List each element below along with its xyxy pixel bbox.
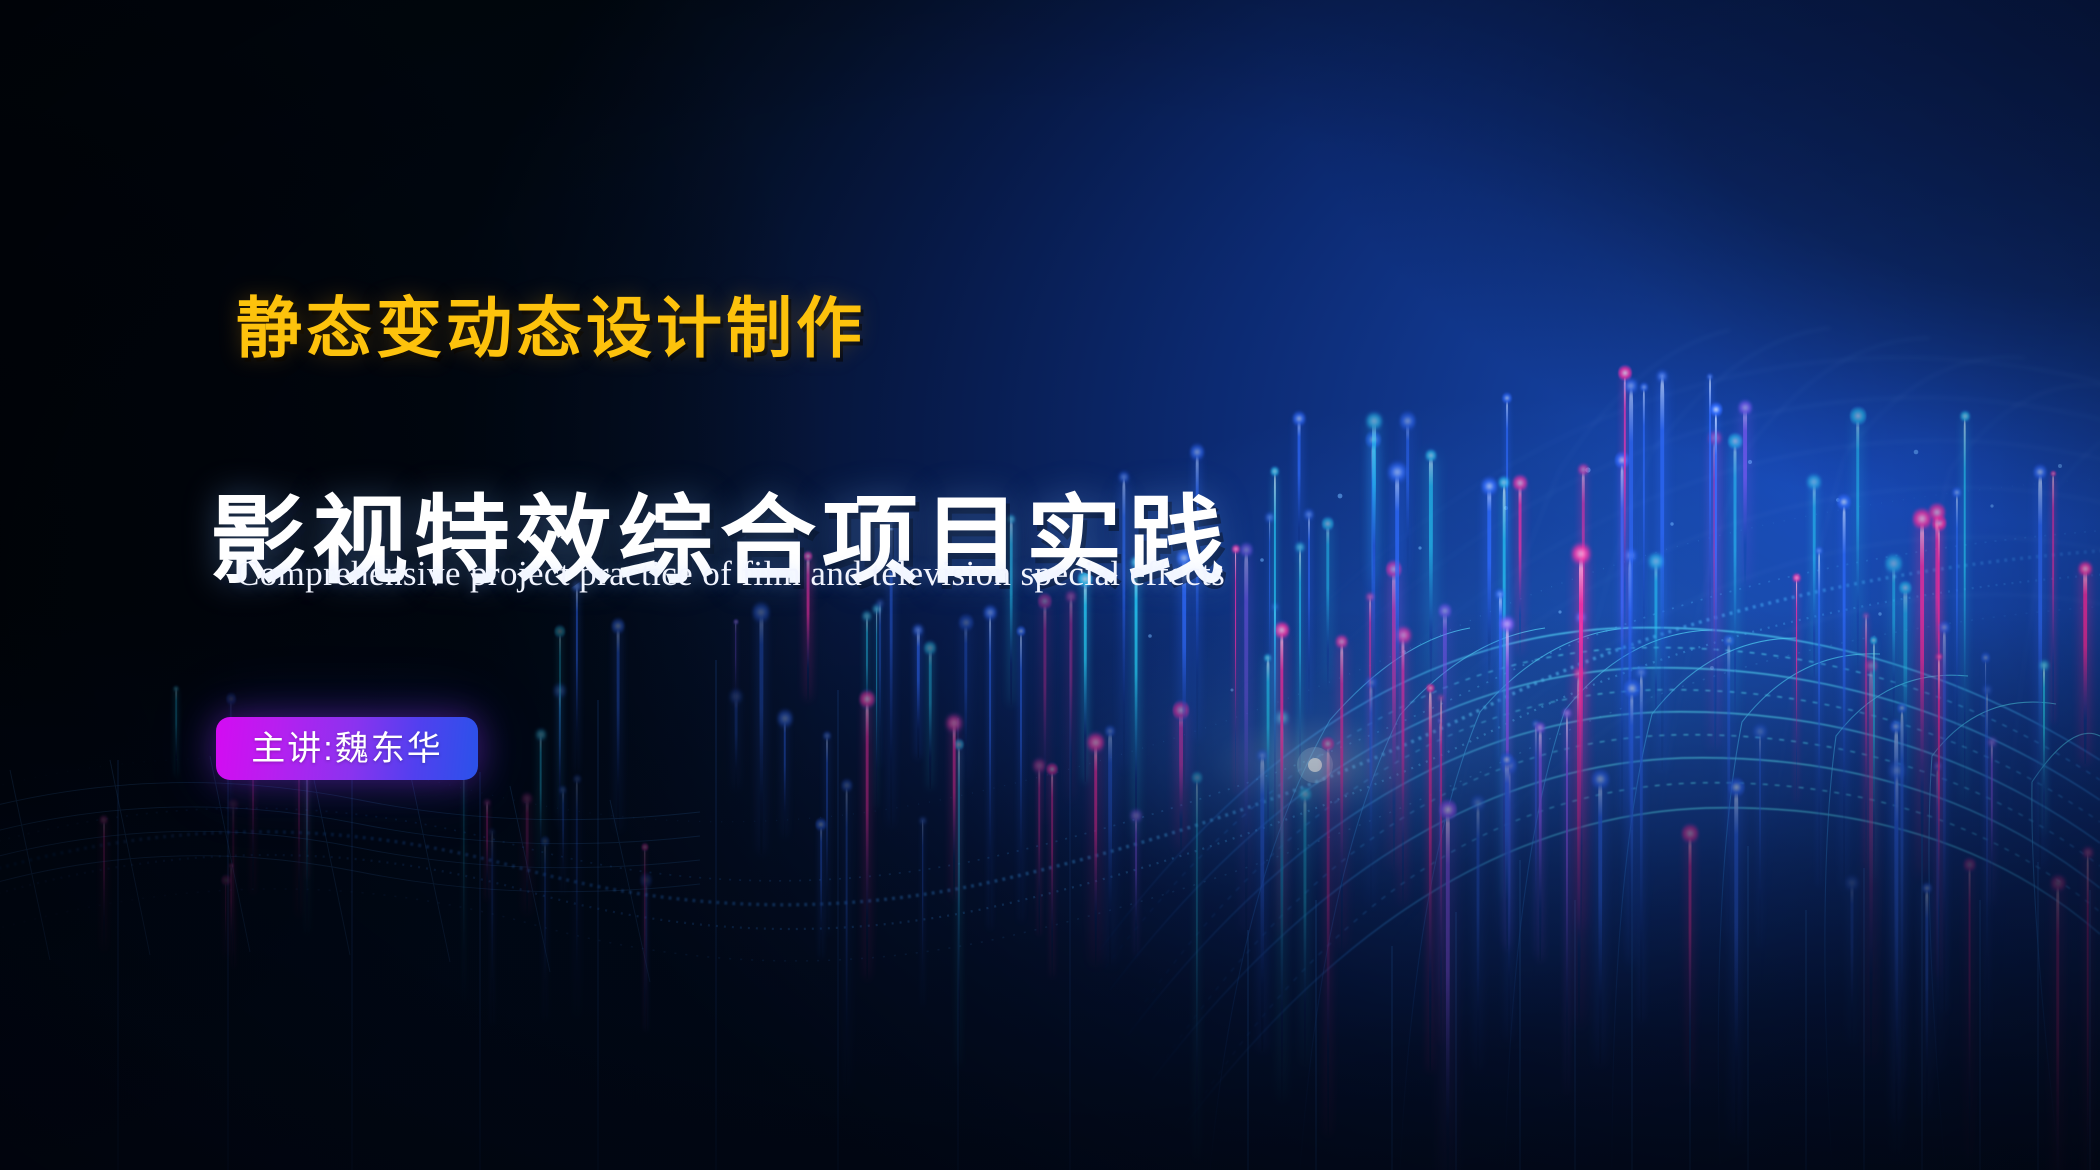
page-subtitle-english: Comprehensive project practice of film a… [236,553,1225,595]
speaker-badge: 主讲:魏东华 [216,717,478,780]
eyebrow-heading: 静态变动态设计制作 [236,295,866,361]
speaker-badge-label: 主讲:魏东华 [251,732,442,766]
title-slide: 静态变动态设计制作 影视特效综合项目实践 Comprehensive proje… [0,0,2100,1170]
